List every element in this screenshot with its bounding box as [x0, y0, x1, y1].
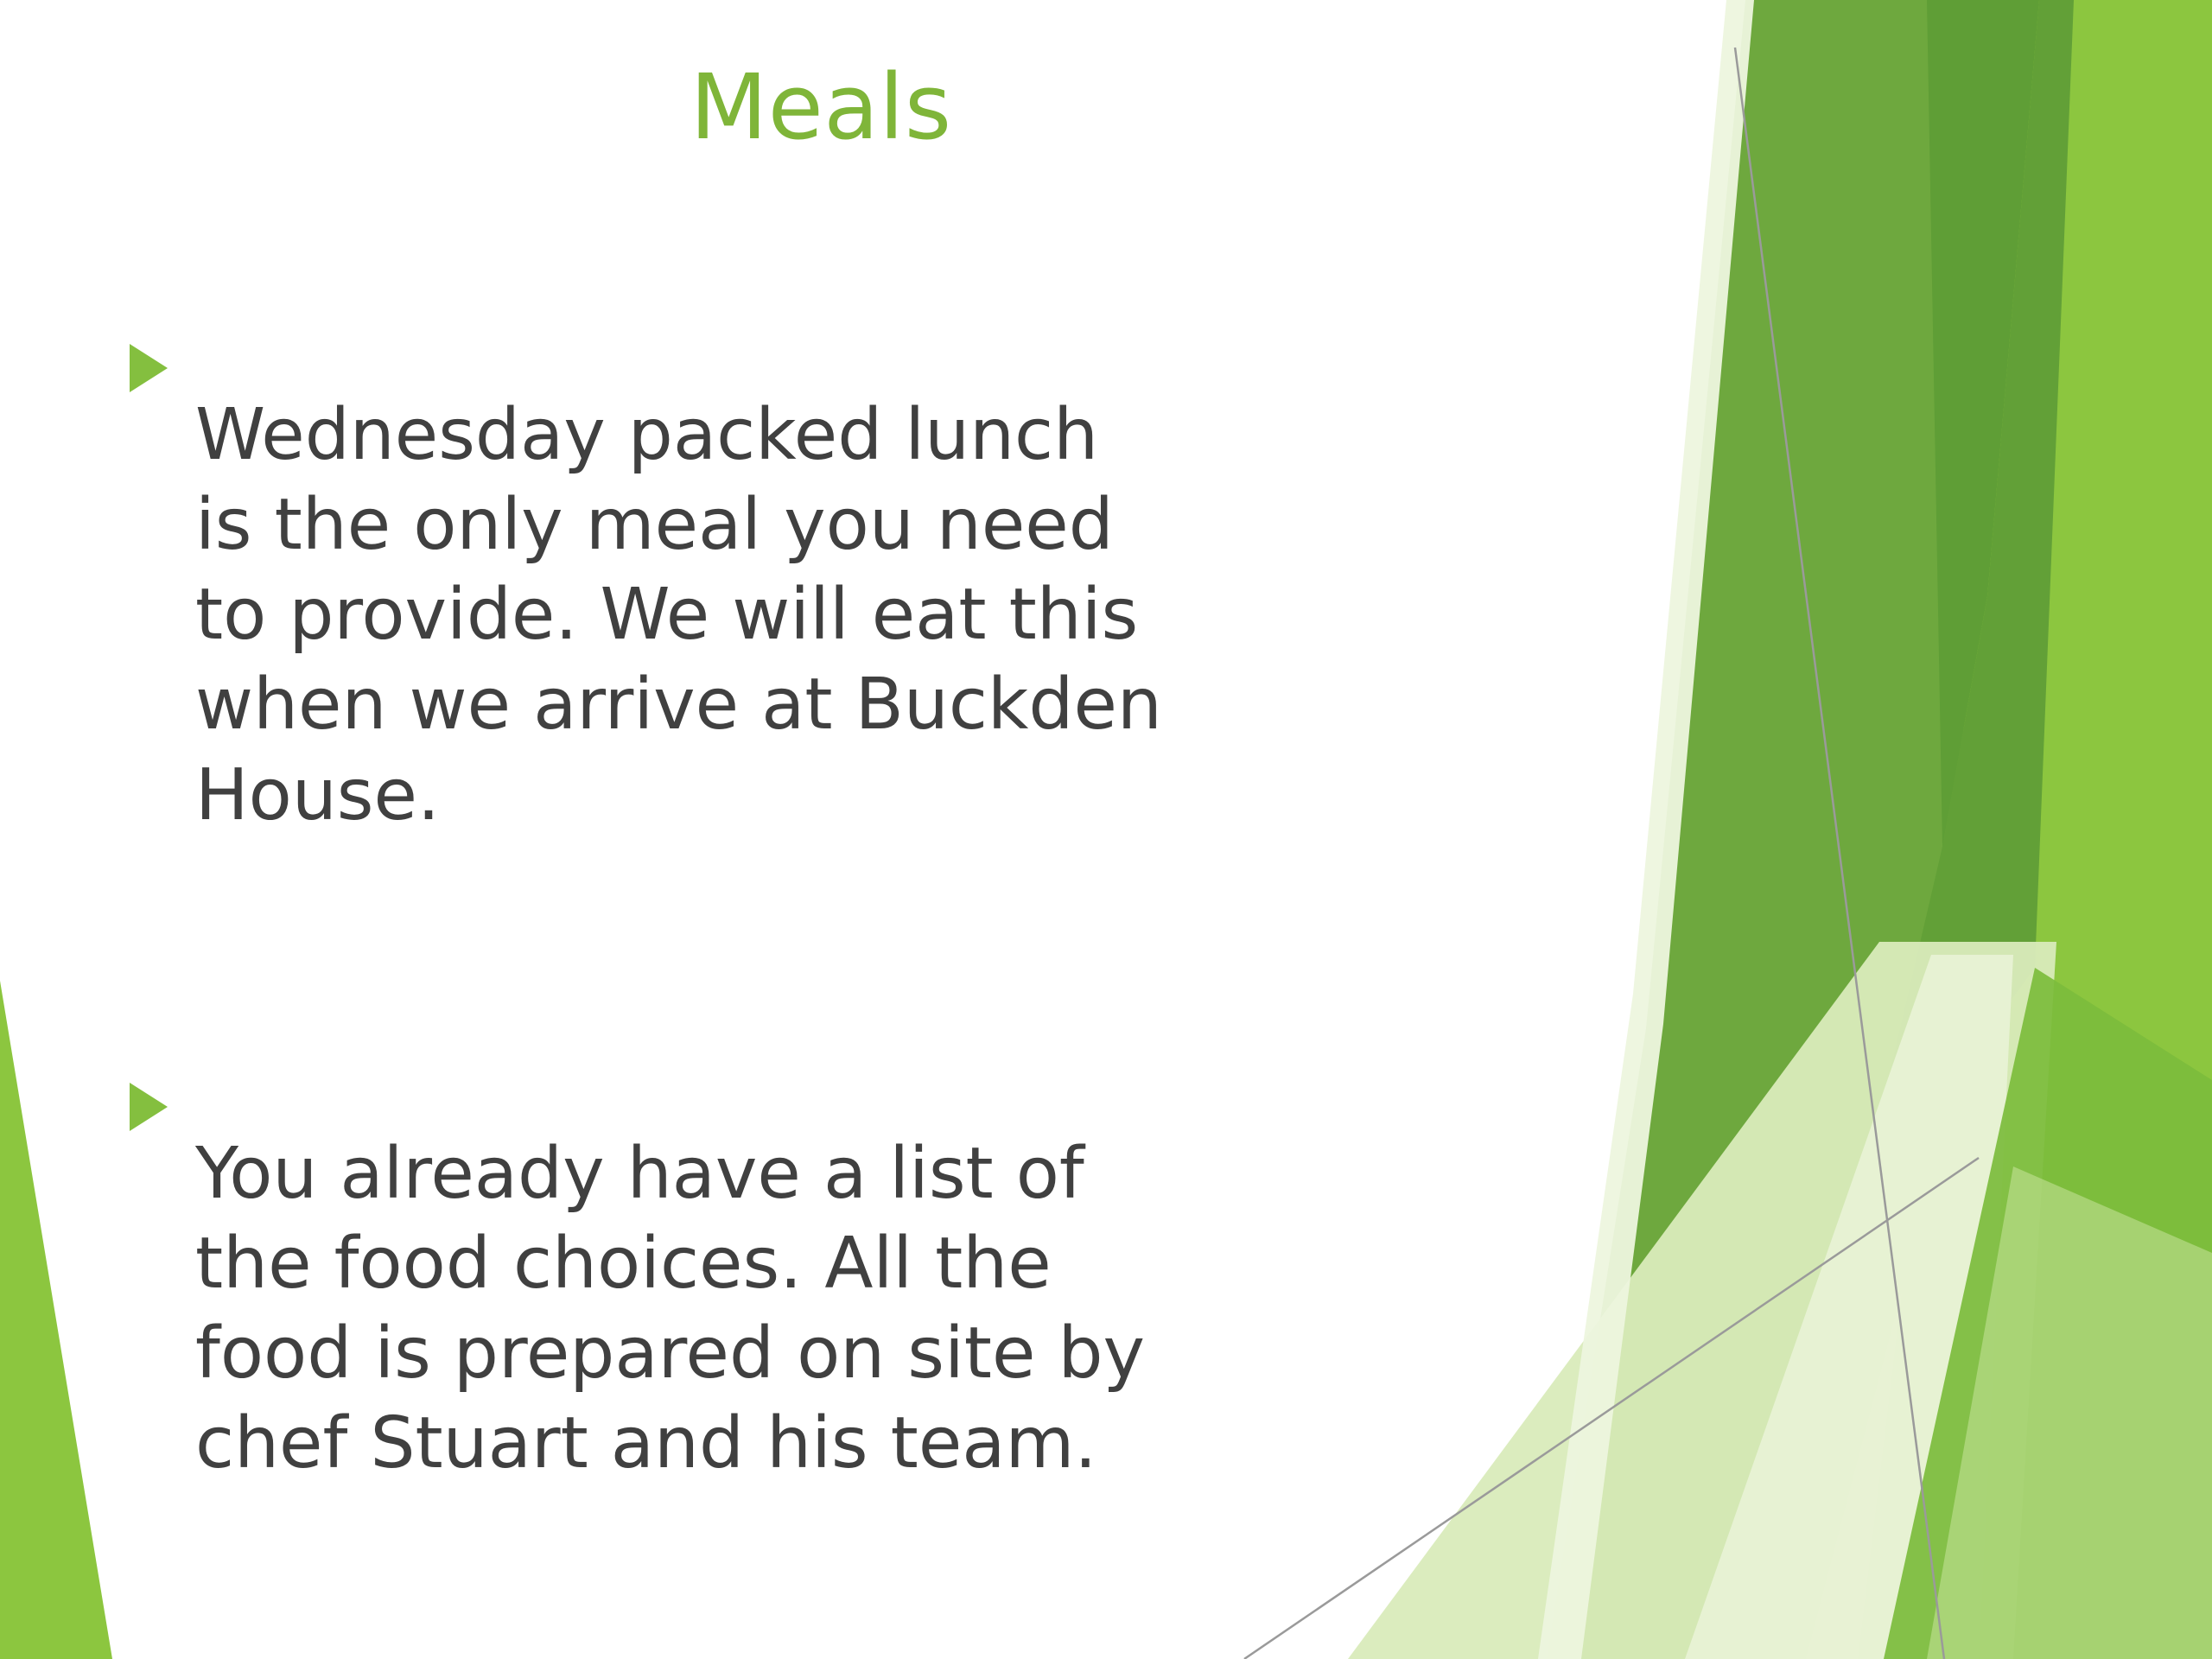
triangle-right-icon: [130, 344, 178, 392]
hairline-diagonal-steep: [1735, 48, 1944, 1659]
right-bright-green-band: [1676, 0, 2074, 1659]
presentation-slide: Meals Wednesday packed lunch is the only…: [0, 0, 2212, 1659]
bullet-list-item: You already have a list of the food choi…: [130, 1058, 1668, 1560]
bullet-list-item: Wednesday packed lunch is the only meal …: [130, 320, 1668, 912]
lower-right-green-overlap: [1884, 968, 2212, 1659]
bottom-left-wedge-shape: [0, 981, 112, 1659]
mid-deep-green-wedge: [1858, 0, 2074, 1210]
slide-title: Meals: [0, 60, 1642, 155]
upper-deep-green-wedge: [1927, 0, 2039, 847]
bullet-text: You already have a list of the food choi…: [195, 1129, 1198, 1490]
triangle-right-icon: [130, 1083, 178, 1131]
title-placeholder: Meals: [0, 60, 1642, 155]
right-bright-green-slab: [1858, 0, 2212, 1659]
pale-green-sliver-shape: [1685, 955, 2013, 1659]
bullet-text: Wednesday packed lunch is the only meal …: [195, 391, 1163, 841]
bottom-right-light-wash: [1927, 1166, 2212, 1659]
body-content-placeholder: Wednesday packed lunch is the only meal …: [130, 320, 1668, 1659]
